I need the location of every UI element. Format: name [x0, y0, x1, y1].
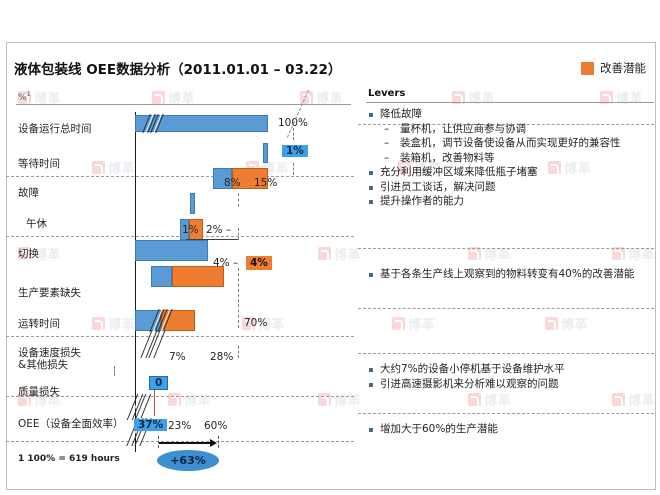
value-oee-target: 60% [204, 420, 227, 432]
waterfall-chart: %1 设备运行总时间 等待时间 故障 午休 切换 生产要素缺失 运转时间 设备速… [6, 88, 356, 488]
axis-unit-footnote-marker: 1 [27, 90, 31, 98]
value-operating-time: 70% [244, 317, 267, 329]
bar-total-runtime [135, 115, 268, 132]
lever-item: 引进高速摄影机来分析难以观察的问题 [366, 378, 654, 392]
lever-item: 充分利用缓冲区域来降低瓶子堵塞 [366, 166, 654, 180]
lever-item: 大约7%的设备小停机基于设备维护水平 [366, 363, 654, 377]
levers-panel: Levers 降低故障 量杯机，让供应商参与协调 装盒机，调节设备使设备从而实现… [366, 88, 654, 488]
axis-unit-text: % [18, 93, 27, 103]
value-changeover-potential-highlight: 4% [246, 256, 272, 270]
levers-group-breakdowns: 降低故障 量杯机，让供应商参与协调 装盒机，调节设备使设备从而实现更好的兼容性 … [366, 108, 654, 210]
bar-segment-current [135, 240, 208, 261]
value-breakdown-current: 8% [224, 177, 241, 189]
page-title: 液体包装线 OEE数据分析（2011.01.01 – 03.22） [14, 58, 341, 78]
gain-badge: +63% [157, 450, 219, 471]
section-divider [6, 336, 354, 337]
bar-material-shortage [151, 266, 224, 287]
row-label-changeover: 切换 [18, 248, 39, 260]
bar-lunch-marker [190, 193, 195, 214]
lever-subitem: 装箱机，改善物料等 [366, 152, 654, 166]
bar-segment-current [151, 266, 172, 287]
chart-footnote: 1 100% = 619 hours [18, 454, 120, 464]
value-lunch-potential: 2% – [206, 224, 231, 236]
leader-tick [238, 228, 239, 240]
lever-item: 增加大于60%的生产潜能 [366, 423, 654, 437]
quality-loss-stem [154, 388, 155, 416]
leader-tick [114, 366, 115, 376]
row-label-waiting-time: 等待时间 [18, 158, 60, 170]
levers-group-oee: 增加大于60%的生产潜能 [366, 423, 654, 438]
lever-item: 降低故障 [366, 108, 654, 122]
levers-title: Levers [368, 88, 405, 99]
levers-divider [358, 248, 654, 249]
legend: 改善潜能 [581, 60, 646, 76]
legend-label-improvement-potential: 改善潜能 [600, 60, 646, 76]
bar-segment-improvement [172, 266, 224, 287]
lever-subitem: 量杯机，让供应商参与协调 [366, 123, 654, 137]
leader-tick [238, 268, 239, 328]
gain-arrow-head-icon [210, 439, 217, 447]
axis-unit-label: %1 [18, 90, 31, 103]
leader-underline [186, 239, 238, 240]
bar-operating-time [135, 310, 195, 331]
row-label-quality-loss: 质量损失 [18, 386, 60, 398]
value-changeover-current: 4% – [213, 257, 238, 269]
leader-tick [293, 163, 294, 175]
row-label-oee: OEE（设备全面效率） [18, 418, 124, 430]
leader-tick [293, 128, 294, 140]
levers-divider [358, 413, 654, 414]
slide-canvas: 博革 博革 博革 博革 博革 博革 博革 博革 博革 博革 博革 博革 博革 博… [0, 0, 660, 495]
levers-divider [358, 308, 654, 309]
row-label-breakdown: 故障 [18, 187, 39, 199]
arrow-cap-right [218, 436, 219, 448]
value-oee-current-highlight: 37% [134, 419, 167, 431]
levers-group-material: 基于各条生产线上观察到的物料转变有40%的改善潜能 [366, 268, 654, 283]
row-label-speed-loss-2: &其他损失 [18, 359, 68, 371]
gain-arrow-line [159, 442, 211, 444]
row-label-operating-time: 运转时间 [18, 318, 60, 330]
bar-segment-current [190, 193, 195, 214]
row-label-lunch-break: 午休 [26, 218, 47, 230]
row-label-material-shortage: 生产要素缺失 [18, 287, 81, 299]
leader-tick [238, 193, 239, 207]
bar-segment-current [263, 143, 268, 163]
section-divider [6, 176, 354, 177]
levers-header-rule [366, 102, 654, 103]
value-breakdown-potential: 15% [254, 177, 277, 189]
row-label-total-runtime: 设备运行总时间 [18, 123, 92, 135]
quality-loss-zero-badge: 0 [149, 376, 168, 390]
bar-waiting-time [263, 143, 268, 163]
levers-divider [358, 353, 654, 354]
lever-subitem: 装盒机，调节设备使设备从而实现更好的兼容性 [366, 137, 654, 151]
legend-swatch-improvement-potential [581, 62, 594, 75]
row-label-speed-loss-1: 设备速度损失 [18, 347, 81, 359]
lever-item: 基于各条生产线上观察到的物料转变有40%的改善潜能 [366, 268, 654, 282]
levers-group-speed-loss: 大约7%的设备小停机基于设备维护水平 引进高速摄影机来分析难以观察的问题 [366, 363, 654, 392]
value-lunch-current: 1% [182, 224, 199, 236]
lever-item: 引进员工谈话，解决问题 [366, 181, 654, 195]
value-speed-loss-potential: 28% [210, 351, 233, 363]
value-waiting-time-highlight: 1% [282, 145, 308, 157]
lever-item: 提升操作者的能力 [366, 195, 654, 209]
value-oee-gain: 23% [168, 420, 191, 432]
value-speed-loss-current: 7% [169, 351, 186, 363]
leader-tick [238, 346, 239, 358]
bar-changeover [135, 240, 208, 261]
